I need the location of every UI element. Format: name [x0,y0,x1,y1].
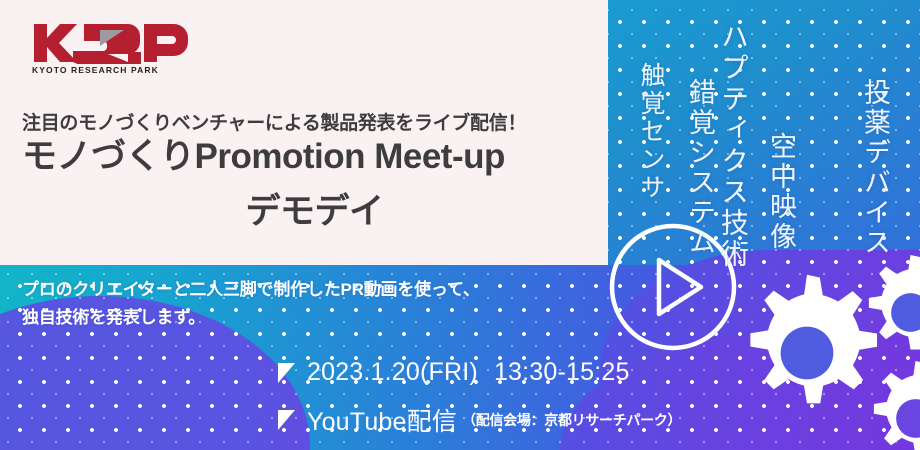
schedule-time: 13:30-15:25 [494,358,630,387]
krp-logo[interactable]: KYOTO RESEARCH PARK [30,22,190,80]
description-line-1: プロのクリエイターと二人三脚で制作したPR動画を使って、 [22,276,622,304]
event-banner: KYOTO RESEARCH PARK 注目のモノづくりベンチャーによる製品発表… [0,0,920,450]
page-title-line1: モノづくりPromotion Meet-up [22,136,622,179]
schedule-date-row: 2023.1.20(FRI) 13:30-15:25 [278,358,630,387]
krp-logo-icon [30,22,190,64]
description-line-2: 独自技術を発表します。 [22,304,622,332]
lead-text: 注目のモノづくりベンチャーによる製品発表をライブ配信！ [22,108,622,135]
keyword-haptics-technology: ハプティクス技術 [712,22,752,270]
keyword-aerial-imaging: 空中映像 [762,132,801,252]
stream-label: YouTube配信 [307,402,457,438]
gear-icon-lower-right [853,356,920,450]
triangle-marker-icon-2 [278,410,295,430]
keyword-drug-delivery-device: 投薬デバイス [856,78,895,258]
schedule-date: 2023.1.20(FRI) [307,358,478,387]
triangle-marker-icon [278,363,295,383]
description-text: プロのクリエイターと二人三脚で制作したPR動画を使って、 独自技術を発表します。 [22,276,622,331]
keyword-tactile-sensor: 触覚センサ [632,62,668,202]
page-title-line2: デモデイ [22,183,607,234]
stream-venue-note: （配信会場：京都リサーチパーク） [462,410,681,430]
schedule-stream-row: YouTube配信 （配信会場：京都リサーチパーク） [278,402,681,438]
krp-logo-subtitle: KYOTO RESEARCH PARK [32,65,159,75]
